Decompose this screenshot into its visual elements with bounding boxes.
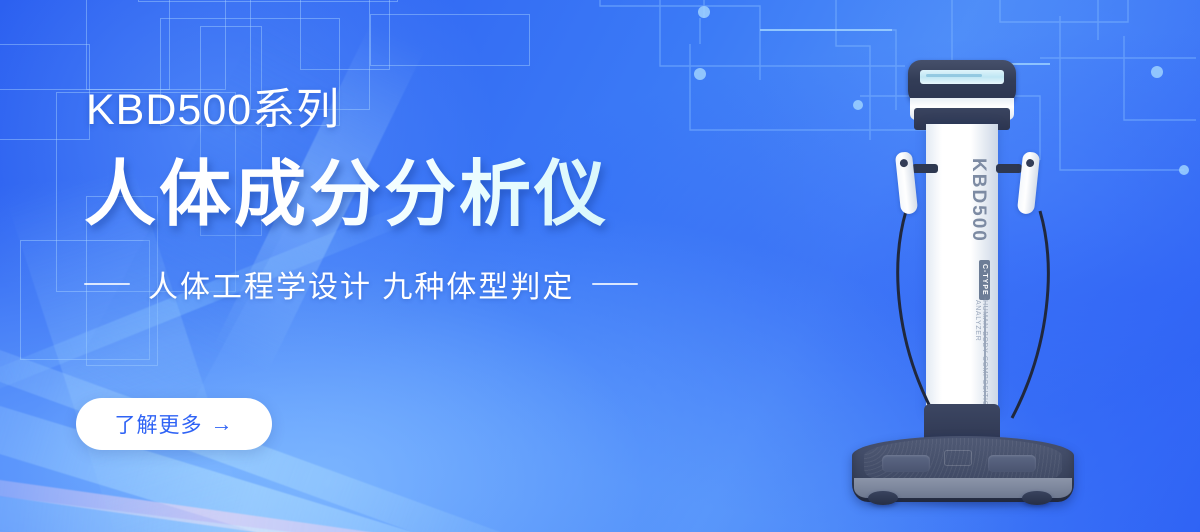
product-series-label: KBD500系列 [86,75,340,137]
device-electrode-pad-right [988,455,1036,472]
page-title: 人体成分分析仪 [84,135,609,240]
device-center-marker [944,450,972,466]
arrow-right-icon: → [211,413,234,435]
device-foot-right [1022,491,1052,505]
subtitle-text: 人体工程学设计 九种体型判定 [148,262,574,306]
learn-more-button[interactable]: 了解更多 → [76,398,272,450]
dash-left-icon [84,283,130,285]
banner-content: KBD500系列 人体成分分析仪 人体工程学设计 九种体型判定 [84,0,744,532]
device-electrode-pad-left [882,455,930,472]
device-handle-mount-right [996,164,1022,173]
dash-right-icon [592,283,638,285]
device-foot-left [868,491,898,505]
device-handle-mount-left [912,164,938,173]
device-cables [840,46,1110,446]
body-composition-analyzer-image: KBD500 C-TYPE HUMAN BODY COMPOSITION ANA… [840,46,1110,532]
promo-banner: KBD500系列 人体成分分析仪 人体工程学设计 九种体型判定 了解更多 → K… [0,0,1200,532]
subtitle-row: 人体工程学设计 九种体型判定 [84,262,638,306]
learn-more-label: 了解更多 [115,409,203,439]
